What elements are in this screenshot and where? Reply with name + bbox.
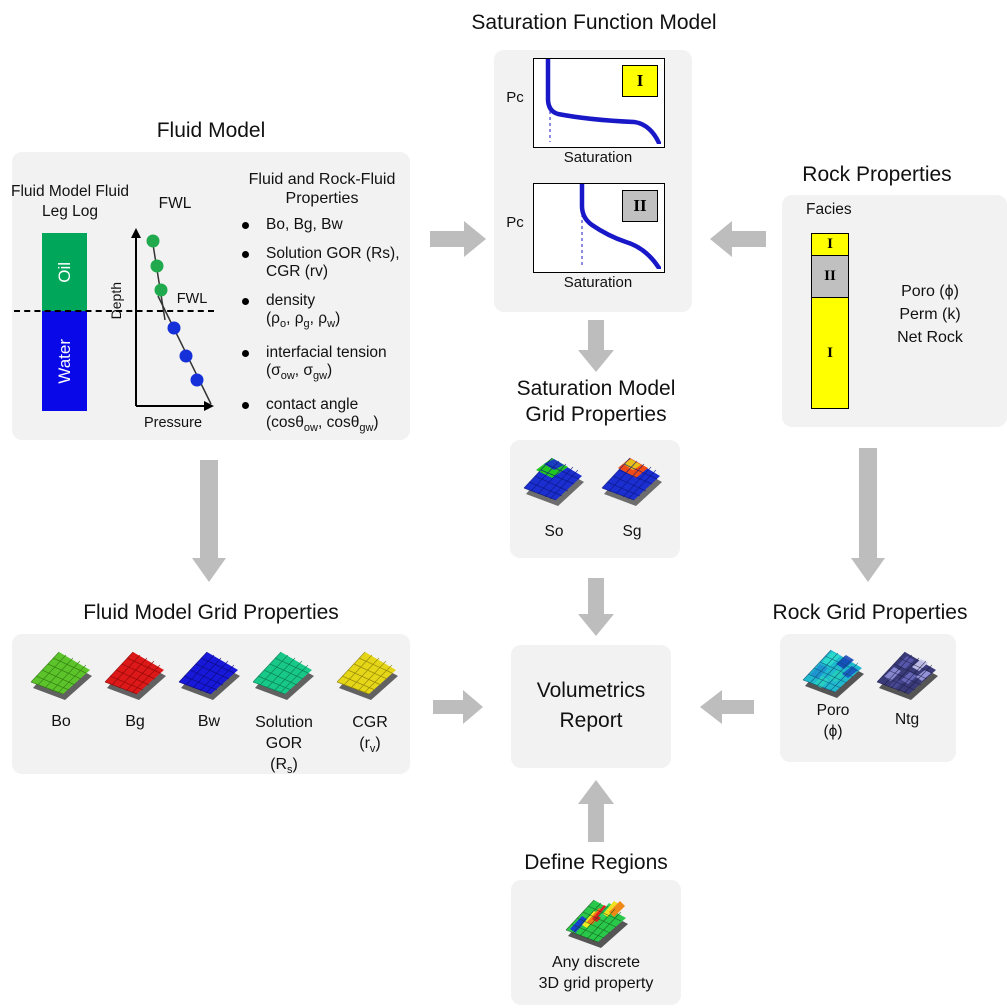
- solution-gor-sub-text: (Rs): [270, 756, 298, 773]
- saturation-function-title: Saturation Function Model: [444, 10, 744, 36]
- grid-thumb-poro: [796, 642, 870, 704]
- pc-chart-1-xlabel: Saturation: [533, 148, 663, 167]
- grid-thumb-bo-label: Bo: [24, 712, 98, 731]
- grid-thumb-discrete-regions: [558, 890, 636, 956]
- rock-property-poro: Poro (ϕ): [870, 282, 990, 301]
- fluid-property-line2: CGR (rv): [266, 263, 328, 280]
- fluid-properties-list: Bo, Bg, Bw Solution GOR (Rs), CGR (rv) d…: [232, 216, 412, 448]
- fluid-property-item: contact angle (cosθow, cosθgw): [232, 396, 412, 437]
- facies-label: Facies: [806, 200, 906, 220]
- poro-sub-text: (ϕ): [823, 723, 842, 740]
- saturation-model-grid-title: Saturation Model Grid Properties: [490, 376, 702, 428]
- arrow-fluid-to-saturation-right-arrow: [430, 221, 486, 257]
- pc-chart-2-flag: II: [622, 190, 658, 222]
- arrow-fluidgrid-to-volumetrics-right-arrow: [433, 690, 483, 724]
- pc-chart-1: I: [533, 58, 665, 148]
- plot-depth-axis-label: Depth: [108, 282, 128, 342]
- pc-chart-1-flag: I: [622, 65, 658, 97]
- fluid-property-line1: Solution GOR (Rs),: [266, 245, 400, 262]
- fluid-property-line2: (ρo, ρg, ρw): [266, 310, 340, 327]
- fluid-model-title: Fluid Model: [12, 118, 410, 144]
- pc-chart-2-xlabel: Saturation: [533, 273, 663, 292]
- rock-property-netrock: Net Rock: [870, 328, 990, 347]
- volumetrics-report-box[interactable]: Volumetrics Report: [511, 645, 671, 768]
- fluid-properties-heading: Fluid and Rock-Fluid Properties: [232, 170, 412, 208]
- pc-chart-2-ylabel: Pc: [500, 213, 530, 232]
- pc-chart-1-ylabel: Pc: [500, 88, 530, 107]
- arrow-rock-to-saturation-left-arrow: [710, 221, 766, 257]
- facies-column: I II I: [811, 233, 849, 409]
- fluid-property-line1: Bo, Bg, Bw: [266, 216, 343, 233]
- grid-thumb-solution-gor-label: Solution GOR (Rs): [238, 712, 330, 781]
- fluid-leg-water-label: Water: [55, 339, 75, 384]
- grid-thumb-bo: [24, 644, 98, 706]
- grid-thumb-bw: [172, 644, 246, 706]
- grid-thumb-sg-label: Sg: [596, 522, 668, 541]
- cgr-label-text: CGR: [352, 714, 388, 731]
- fluid-leg-oil-label: Oil: [55, 262, 75, 283]
- grid-thumb-so: [518, 450, 590, 512]
- grid-thumb-solution-gor: [246, 644, 320, 706]
- grid-thumb-bg-label: Bg: [98, 712, 172, 731]
- grid-thumb-cgr-label: CGR (rv): [332, 712, 408, 760]
- rock-grid-title: Rock Grid Properties: [740, 600, 1000, 626]
- fluid-model-grid-title: Fluid Model Grid Properties: [12, 600, 410, 626]
- grid-thumb-ntg-label: Ntg: [870, 710, 944, 729]
- fluid-leg-pressure-plot: [118, 228, 214, 420]
- grid-thumb-so-label: So: [518, 522, 590, 541]
- arrow-satgrid-to-volumetrics-down-arrow: [578, 578, 614, 636]
- fwl-plot-label: FWL: [164, 290, 220, 309]
- pc-chart-2: II: [533, 183, 665, 273]
- volumetrics-report-line1: Volumetrics: [511, 676, 671, 706]
- facies-segment-1: I: [812, 234, 848, 256]
- fluid-leg-bar: Oil Water: [42, 233, 87, 411]
- grid-thumb-sg: [596, 450, 668, 512]
- fluid-property-line2: (cosθow, cosθgw): [266, 414, 379, 431]
- fluid-property-line1: interfacial tension: [266, 344, 387, 361]
- facies-segment-2: II: [812, 256, 848, 298]
- arrow-rockgrid-to-volumetrics-left-arrow: [700, 690, 754, 724]
- arrow-saturation-to-satgrid-down-arrow: [578, 320, 614, 372]
- rock-property-perm: Perm (k): [870, 305, 990, 324]
- arrow-fluid-to-fluidgrid-down-arrow: [192, 460, 226, 582]
- fluid-property-item: Bo, Bg, Bw: [232, 216, 412, 234]
- grid-thumb-poro-label: Poro (ϕ): [796, 700, 870, 742]
- fluid-leg-segment-water: Water: [42, 311, 87, 411]
- grid-thumb-ntg: [870, 644, 944, 706]
- fluid-leg-segment-oil: Oil: [42, 233, 87, 311]
- arrow-regions-to-volumetrics-up-arrow: [578, 780, 614, 842]
- fluid-property-item: Solution GOR (Rs), CGR (rv): [232, 245, 412, 281]
- grid-thumb-bg: [98, 644, 172, 706]
- grid-thumb-bw-label: Bw: [172, 712, 246, 731]
- rock-properties-title: Rock Properties: [752, 162, 1002, 188]
- fluid-property-line1: density: [266, 292, 315, 309]
- volumetrics-report-line2: Report: [511, 706, 671, 736]
- cgr-sub-text: (rv): [359, 735, 380, 752]
- define-regions-title: Define Regions: [491, 850, 701, 876]
- define-regions-caption: Any discrete 3D grid property: [511, 952, 681, 994]
- poro-label-text: Poro: [817, 702, 850, 719]
- fluid-property-line1: contact angle: [266, 396, 358, 413]
- grid-thumb-cgr: [330, 644, 404, 706]
- solution-gor-label-text: Solution GOR: [255, 714, 313, 752]
- fluid-property-item: interfacial tension (σow, σgw): [232, 344, 412, 385]
- fwl-header-label: FWL: [135, 194, 215, 213]
- arrow-rock-to-rockgrid-down-arrow: [851, 448, 885, 582]
- fluid-leg-log-label: Fluid Model Fluid Leg Log: [10, 182, 130, 222]
- plot-pressure-axis-label: Pressure: [128, 414, 218, 433]
- depth-label-text: Depth: [108, 282, 124, 319]
- fluid-property-line2: (σow, σgw): [266, 362, 332, 379]
- facies-segment-3: I: [812, 298, 848, 408]
- fluid-property-item: density (ρo, ρg, ρw): [232, 292, 412, 333]
